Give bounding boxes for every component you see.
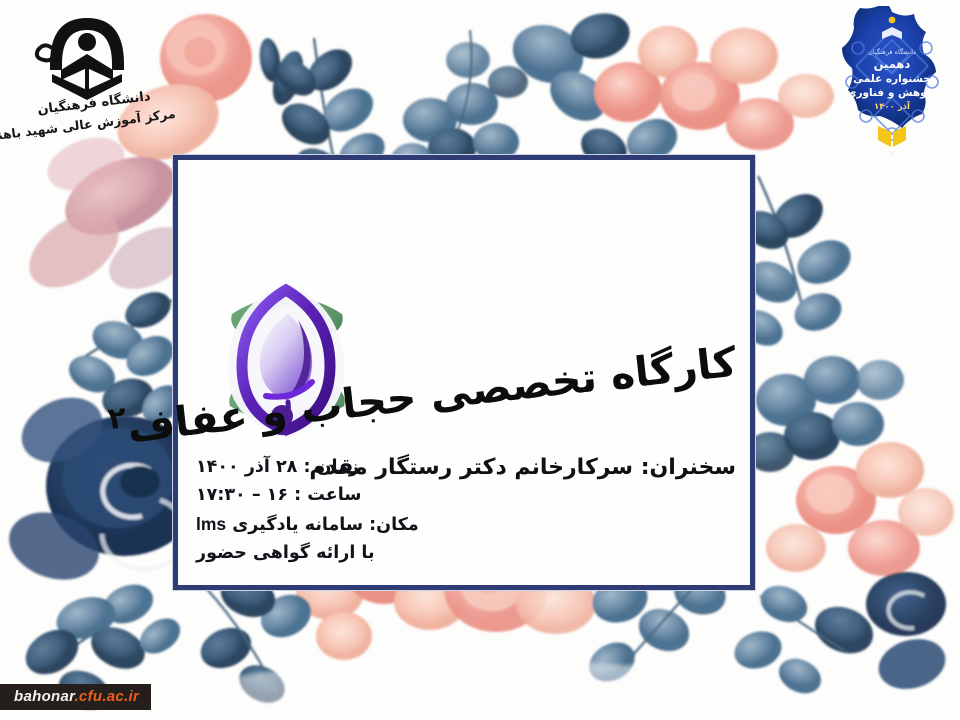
background-wash [180, 660, 780, 720]
event-details: زمان : ۲۸ آذر ۱۴۰۰ ساعت : ۱۶ – ۱۷:۳۰ مکا… [196, 453, 446, 567]
festival-line4: پژوهش و فناوری [847, 87, 937, 99]
event-time: ساعت : ۱۶ – ۱۷:۳۰ [196, 481, 446, 509]
event-date: زمان : ۲۸ آذر ۱۴۰۰ [196, 453, 446, 481]
floral-cluster-top-right [505, 7, 834, 175]
university-logo: دانشگاه فرهنگیان مرکز آموزش عالی شهید با… [10, 4, 170, 149]
festival-bottom-book-icon [878, 126, 906, 156]
festival-logo: دانشگاه فرهنگیان دهمین جشنواره علمی پژوه… [836, 6, 948, 158]
festival-line5: آذر ۱۴۰۰ [874, 100, 911, 112]
workshop-poster: کارگاه تخصصی حجاب و عفاف۲ سخنران: سرکارخ… [0, 0, 960, 720]
announcement-card: کارگاه تخصصی حجاب و عفاف۲ سخنران: سرکارخ… [173, 155, 755, 590]
floral-cluster-right-lower [766, 442, 954, 696]
event-venue: مکان: سامانه یادگیری lms [196, 510, 446, 539]
url-name: bahonar [14, 688, 74, 705]
farhangian-book-icon [32, 4, 142, 102]
festival-line1: دانشگاه فرهنگیان [868, 48, 916, 56]
website-url-banner[interactable]: bahonar.cfu.ac.ir [0, 684, 151, 710]
event-venue-system: lms [196, 514, 226, 534]
url-domain: .cfu.ac.ir [74, 688, 139, 705]
event-venue-label: مکان: سامانه یادگیری [232, 515, 418, 535]
page-title: کارگاه تخصصی حجاب و عفاف۲ [316, 336, 739, 429]
festival-line2: دهمین [874, 57, 911, 71]
festival-emblem-icon: دانشگاه فرهنگیان دهمین جشنواره علمی پژوه… [836, 6, 948, 158]
event-certificate: با ارائه گواهی حضور [196, 539, 446, 567]
festival-line3: جشنواره علمی [853, 73, 931, 85]
